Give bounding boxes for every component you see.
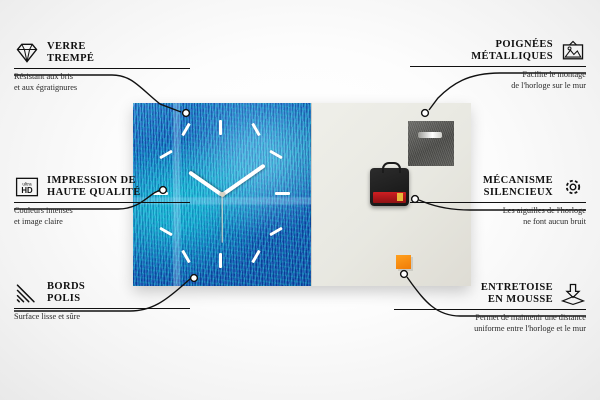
feature-title-line2: HAUTE QUALITÉ [47,187,141,199]
infographic-canvas: VERRE TREMPÉ Résistant aux bris et aux é… [0,0,600,400]
feature-title: BORDS [47,281,85,293]
feature-poignees-metalliques[interactable]: POIGNÉES MÉTALLIQUES Facilite le montage… [410,39,586,91]
diamond-icon [14,41,40,65]
feature-title-line2: TREMPÉ [47,53,94,65]
polished-edges-icon [14,281,40,305]
feature-mecanisme-silencieux[interactable]: MÉCANISME SILENCIEUX Les aiguilles de l'… [410,175,586,227]
hour-mark [251,123,261,137]
divider [394,309,586,310]
feature-bords-polis[interactable]: BORDS POLIS Surface lisse et sûre [14,281,190,323]
feature-subtitle: Surface lisse et sûre [14,312,190,322]
feature-title: ENTRETOISE [481,282,553,294]
hour-mark [269,150,283,160]
foam-spacer-arrow-icon [560,282,586,306]
hanger-slot [418,132,442,138]
divider [410,66,586,67]
feature-title-line2: MÉTALLIQUES [471,51,553,63]
feature-subtitle-line2: uniforme entre l'horloge et le mur [394,324,586,334]
hour-mark [181,250,191,264]
hour-mark [269,227,283,237]
feature-title: IMPRESSION DE [47,175,141,187]
foam-spacer [396,255,411,269]
feature-entretoise-en-mousse[interactable]: ENTRETOISE EN MOUSSE Permet de maintenir… [394,282,586,334]
feature-subtitle: Facilite le montage [410,70,586,80]
feature-title-line2: POLIS [47,293,85,305]
hour-hand [188,170,223,196]
feature-subtitle-line2: ne font aucun bruit [410,217,586,227]
hour-mark [251,250,261,264]
feature-title-line2: EN MOUSSE [481,294,553,306]
hour-mark [219,120,222,135]
feature-subtitle-line2: et aux égratignures [14,83,190,93]
hour-mark [275,192,290,195]
mechanism-hanging-loop [382,162,401,173]
metal-hanger-plate [408,121,454,166]
feature-subtitle: Résistant aux bris [14,72,190,82]
feature-verre-trempe[interactable]: VERRE TREMPÉ Résistant aux bris et aux é… [14,41,190,93]
feature-impression-haute-qualite[interactable]: ultra HD IMPRESSION DE HAUTE QUALITÉ Cou… [14,175,190,227]
hour-mark [219,253,222,268]
minute-hand [221,164,266,197]
feature-title: MÉCANISME [483,175,553,187]
feature-title-line2: SILENCIEUX [483,187,553,199]
divider [14,202,190,203]
ultra-hd-icon: ultra HD [14,175,40,199]
picture-frame-hook-icon [560,39,586,63]
second-hand [221,195,222,243]
clock-mechanism [370,168,409,206]
feature-subtitle: Les aiguilles de l'horloge [410,206,586,216]
feature-subtitle: Couleurs intenses [14,206,190,216]
gear-icon [560,175,586,199]
clock-center-pin [220,192,225,197]
battery [373,192,406,203]
divider [14,308,190,309]
feature-title: VERRE [47,41,94,53]
battery-plus-terminal [397,193,403,201]
hour-mark [159,150,173,160]
hour-mark [159,227,173,237]
svg-text:HD: HD [21,186,33,195]
hour-mark [181,123,191,137]
feature-title: POIGNÉES [471,39,553,51]
divider [14,68,190,69]
feature-subtitle-line2: de l'horloge sur le mur [410,81,586,91]
feature-subtitle: Permet de maintenir une distance [394,313,586,323]
divider [410,202,586,203]
feature-subtitle-line2: et image claire [14,217,190,227]
